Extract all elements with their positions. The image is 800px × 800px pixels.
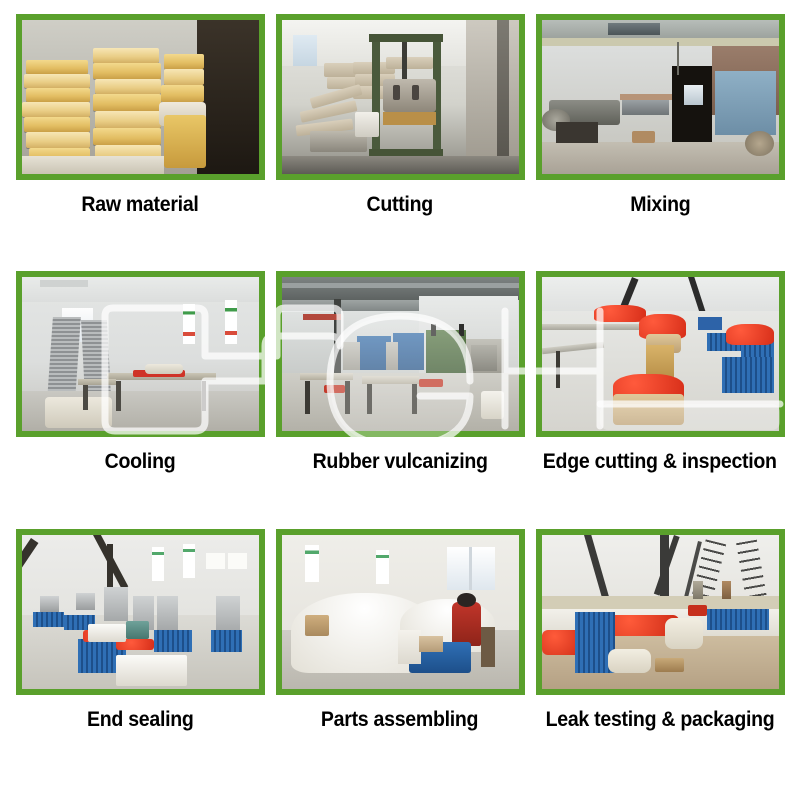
process-image-frame-6[interactable] (536, 271, 785, 437)
process-image-frame-9[interactable] (536, 529, 785, 695)
process-step-1[interactable]: Raw material (13, 14, 267, 265)
process-gallery: Raw material (0, 0, 800, 800)
process-image-frame-3[interactable] (536, 14, 785, 180)
process-grid: Raw material (0, 0, 800, 800)
process-step-label-3: Mixing (630, 193, 690, 217)
process-step-label-1: Raw material (81, 193, 198, 217)
process-step-7[interactable]: End sealing (13, 529, 267, 780)
process-photo-edge-cutting-inspection (542, 277, 779, 431)
process-step-9[interactable]: Leak testing & packaging (533, 529, 787, 780)
process-photo-rubber-vulcanizing (282, 277, 519, 431)
process-step-label-9: Leak testing & packaging (546, 708, 775, 732)
process-step-label-8: Parts assembling (321, 708, 478, 732)
process-photo-cooling (22, 277, 259, 431)
process-step-4[interactable]: Cooling (13, 271, 267, 522)
process-photo-parts-assembling (282, 535, 519, 689)
process-step-label-4: Cooling (105, 450, 176, 474)
process-step-label-2: Cutting (367, 193, 433, 217)
process-step-3[interactable]: Mixing (533, 14, 787, 265)
process-step-5[interactable]: Rubber vulcanizing (273, 271, 527, 522)
process-step-6[interactable]: Edge cutting & inspection (533, 271, 787, 522)
process-image-frame-4[interactable] (16, 271, 265, 437)
process-photo-raw-material (22, 20, 259, 174)
process-photo-mixing (542, 20, 779, 174)
process-image-frame-7[interactable] (16, 529, 265, 695)
process-photo-cutting (282, 20, 519, 174)
process-step-label-6: Edge cutting & inspection (543, 450, 777, 474)
process-step-label-7: End sealing (87, 708, 194, 732)
process-step-8[interactable]: Parts assembling (273, 529, 527, 780)
process-photo-end-sealing (22, 535, 259, 689)
process-image-frame-8[interactable] (276, 529, 525, 695)
process-image-frame-2[interactable] (276, 14, 525, 180)
process-image-frame-1[interactable] (16, 14, 265, 180)
process-image-frame-5[interactable] (276, 271, 525, 437)
process-step-2[interactable]: Cutting (273, 14, 527, 265)
process-photo-leak-testing-packaging (542, 535, 779, 689)
process-step-label-5: Rubber vulcanizing (312, 450, 487, 474)
